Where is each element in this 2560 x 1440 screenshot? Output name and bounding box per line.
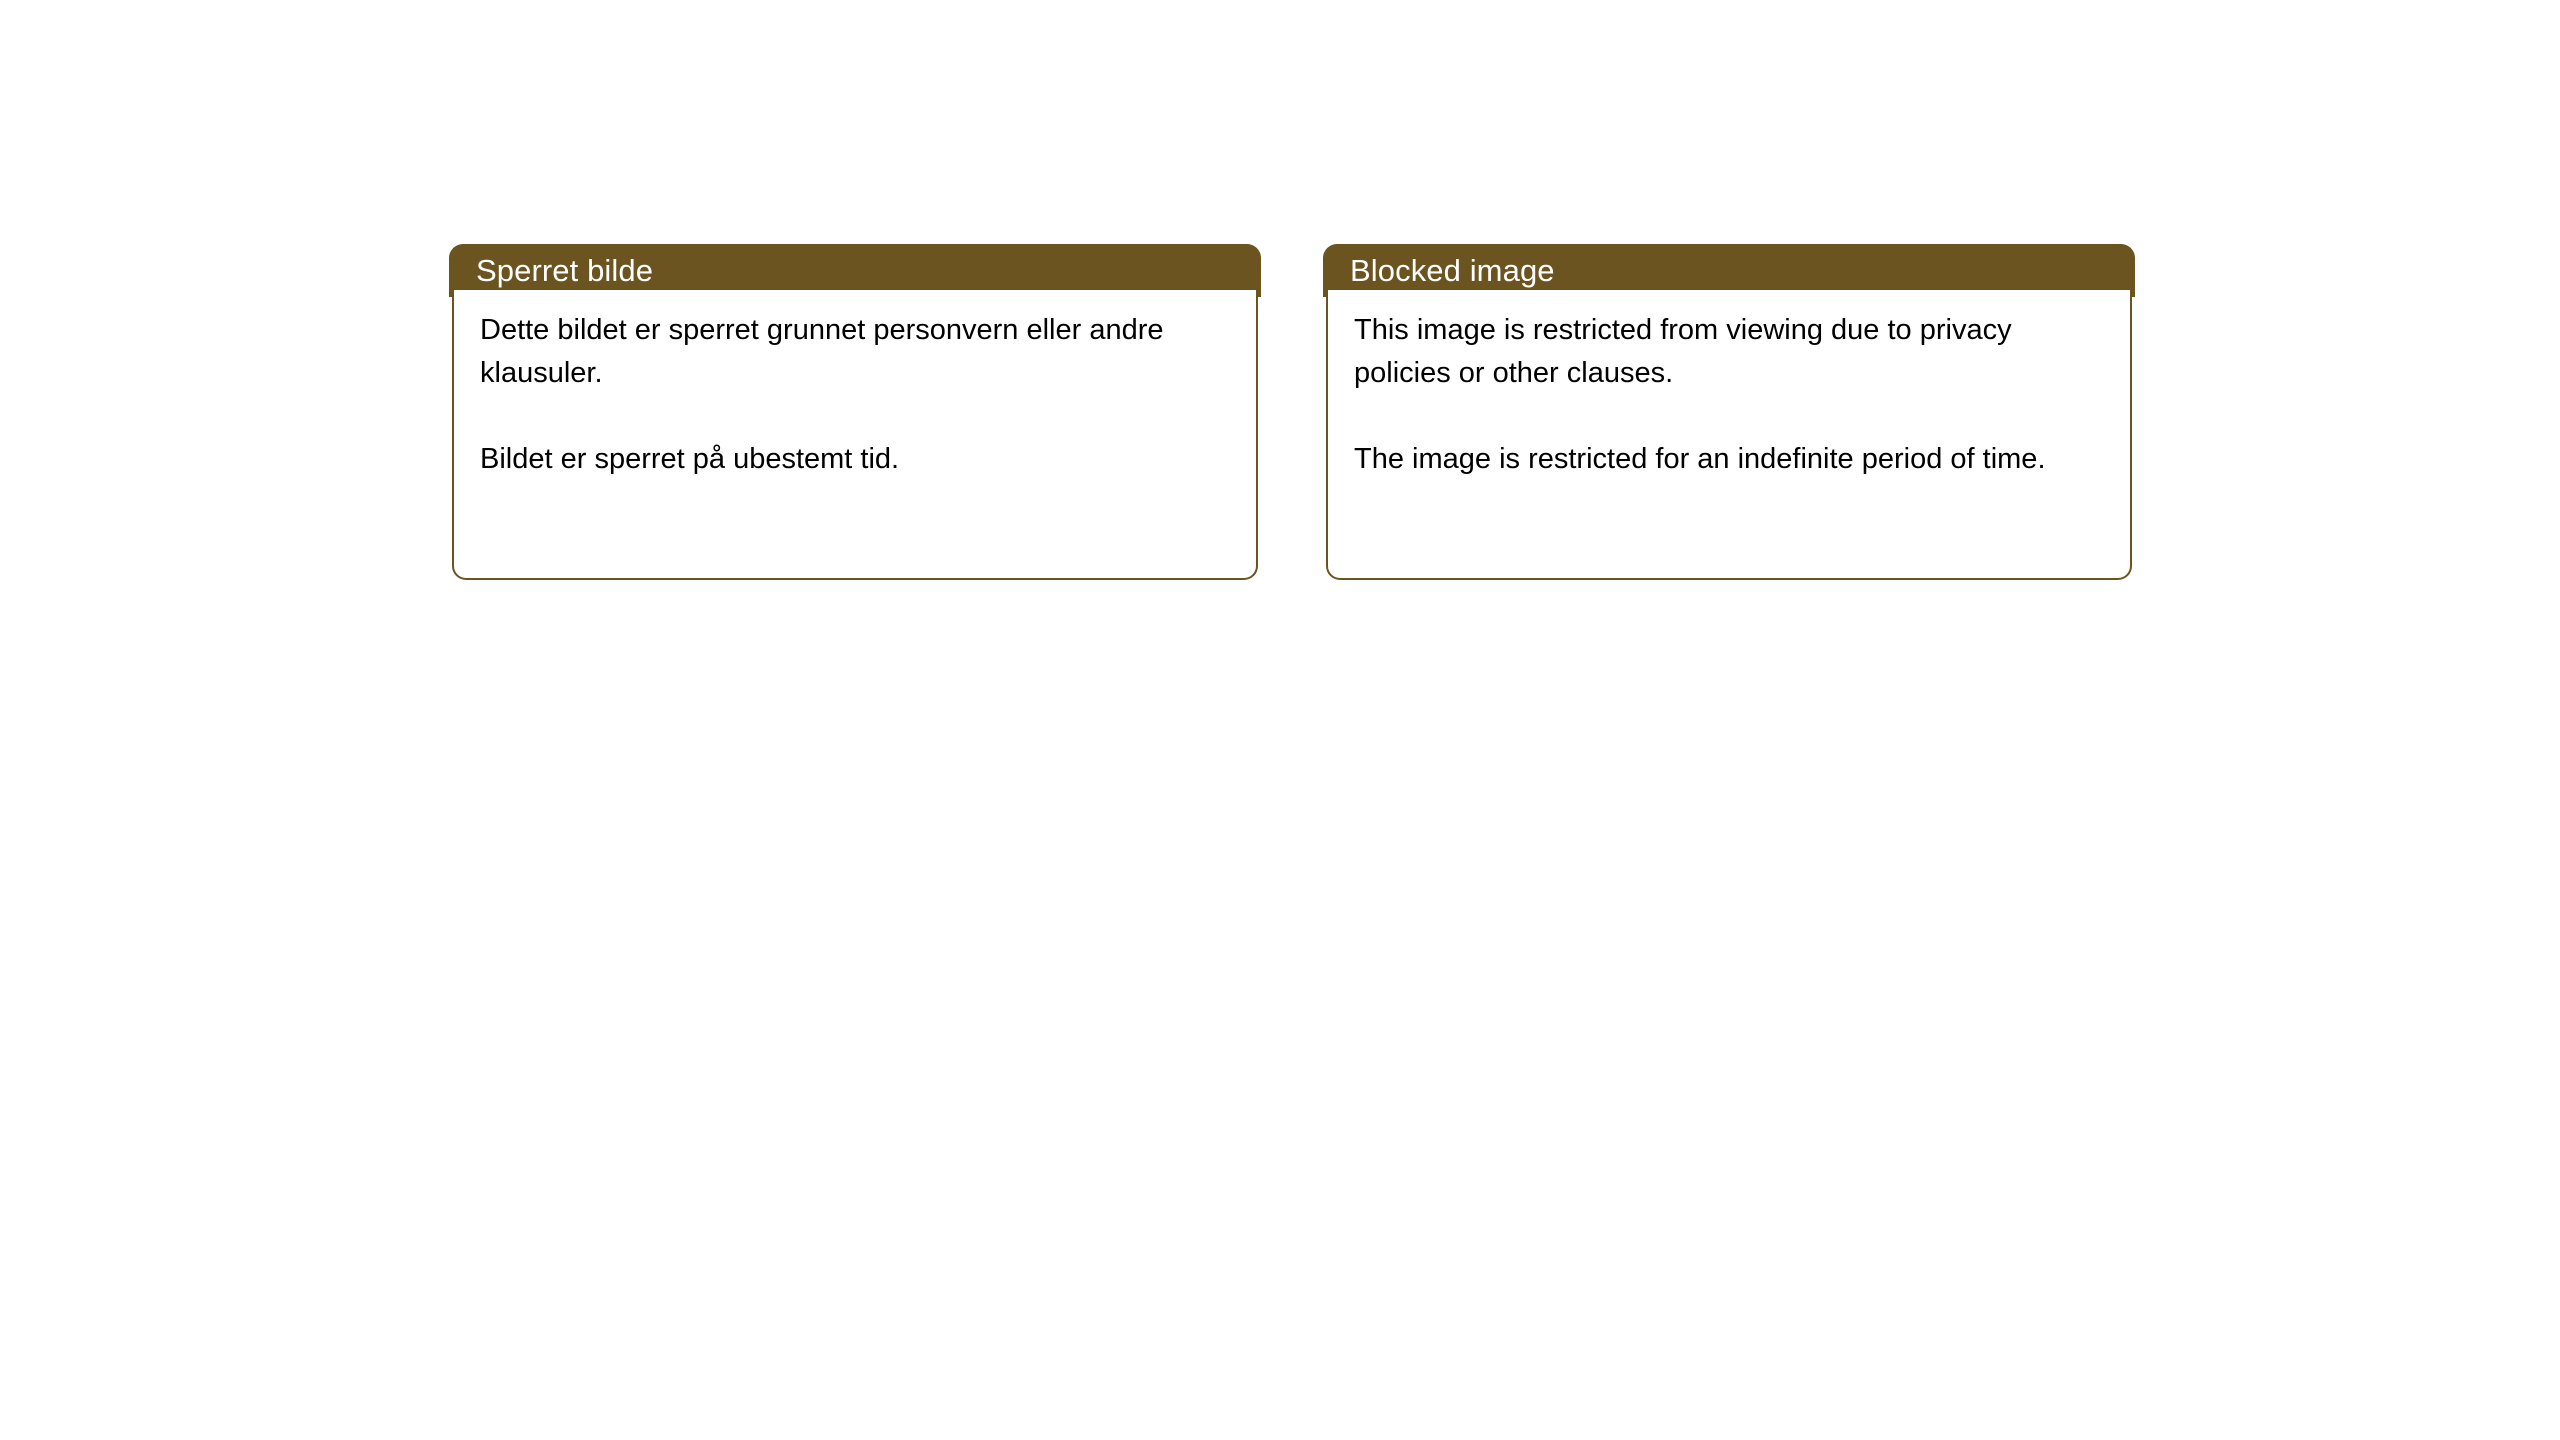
page-canvas: Sperret bilde Dette bildet er sperret gr… — [0, 0, 2560, 1440]
card-paragraph-duration-no: Bildet er sperret på ubestemt tid. — [480, 438, 1234, 481]
blocked-image-notice-en: Blocked image This image is restricted f… — [1326, 244, 2132, 580]
card-title-no: Sperret bilde — [476, 253, 653, 289]
card-paragraph-duration-en: The image is restricted for an indefinit… — [1354, 438, 2108, 481]
blocked-image-notice-no: Sperret bilde Dette bildet er sperret gr… — [452, 244, 1258, 580]
card-body-no: Dette bildet er sperret grunnet personve… — [452, 290, 1258, 580]
card-title-en: Blocked image — [1350, 253, 1555, 289]
card-paragraph-reason-no: Dette bildet er sperret grunnet personve… — [480, 309, 1234, 395]
card-paragraph-reason-en: This image is restricted from viewing du… — [1354, 309, 2108, 395]
card-body-en: This image is restricted from viewing du… — [1326, 290, 2132, 580]
